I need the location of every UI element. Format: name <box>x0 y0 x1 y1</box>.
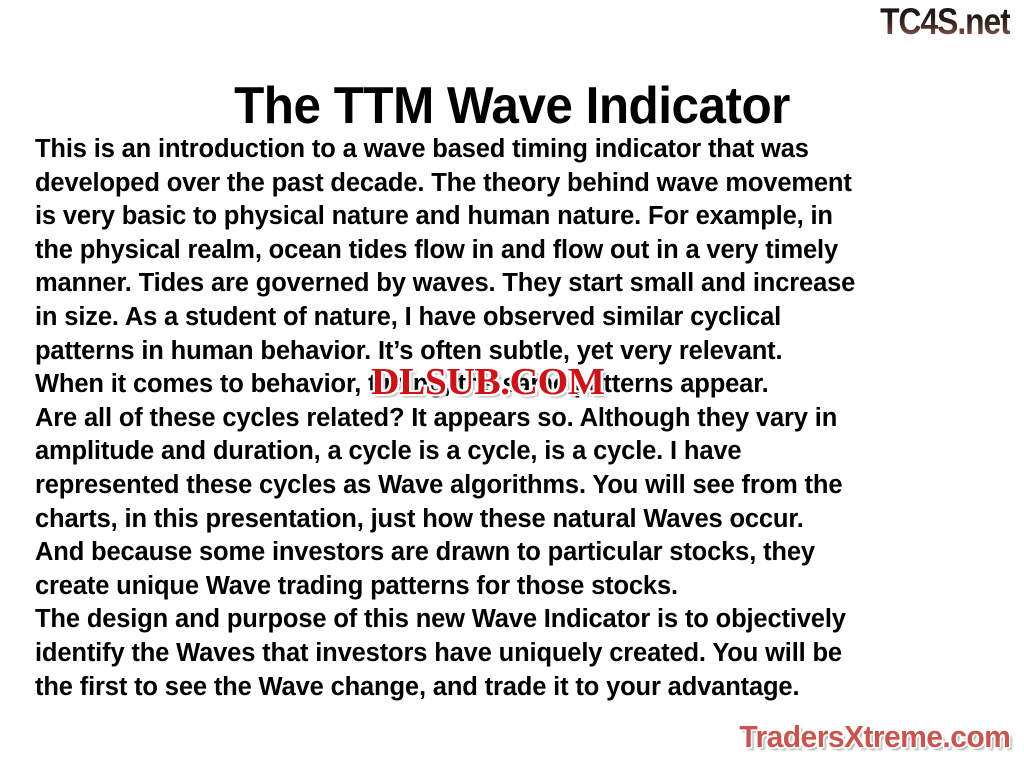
body-line: identify the Waves that investors have u… <box>35 637 995 671</box>
slide-body-text: This is an introduction to a wave based … <box>35 133 995 704</box>
body-line: developed over the past decade. The theo… <box>35 167 995 201</box>
body-line: manner. Tides are governed by waves. The… <box>35 267 995 301</box>
body-line: create unique Wave trading patterns for … <box>35 570 995 604</box>
body-line: amplitude and duration, a cycle is a cyc… <box>35 435 995 469</box>
body-line: And because some investors are drawn to … <box>35 536 995 570</box>
brand-logo-tc4s: TC4S.net <box>880 2 1010 42</box>
watermark-tradersxtreme: TradersXtreme.com <box>739 719 1010 755</box>
body-line: This is an introduction to a wave based … <box>35 133 995 167</box>
body-line: the physical realm, ocean tides flow in … <box>35 234 995 268</box>
body-line: the first to see the Wave change, and tr… <box>35 671 995 705</box>
body-line: represented these cycles as Wave algorit… <box>35 469 995 503</box>
body-line: The design and purpose of this new Wave … <box>35 603 995 637</box>
body-line: Are all of these cycles related? It appe… <box>35 402 995 436</box>
body-line: in size. As a student of nature, I have … <box>35 301 995 335</box>
presentation-slide: TC4S.net The TTM Wave Indicator This is … <box>0 0 1024 768</box>
watermark-dlsub: DLSUB.COM <box>371 362 605 402</box>
slide-title: The TTM Wave Indicator <box>26 77 999 135</box>
body-line: charts, in this presentation, just how t… <box>35 503 995 537</box>
body-line: is very basic to physical nature and hum… <box>35 200 995 234</box>
